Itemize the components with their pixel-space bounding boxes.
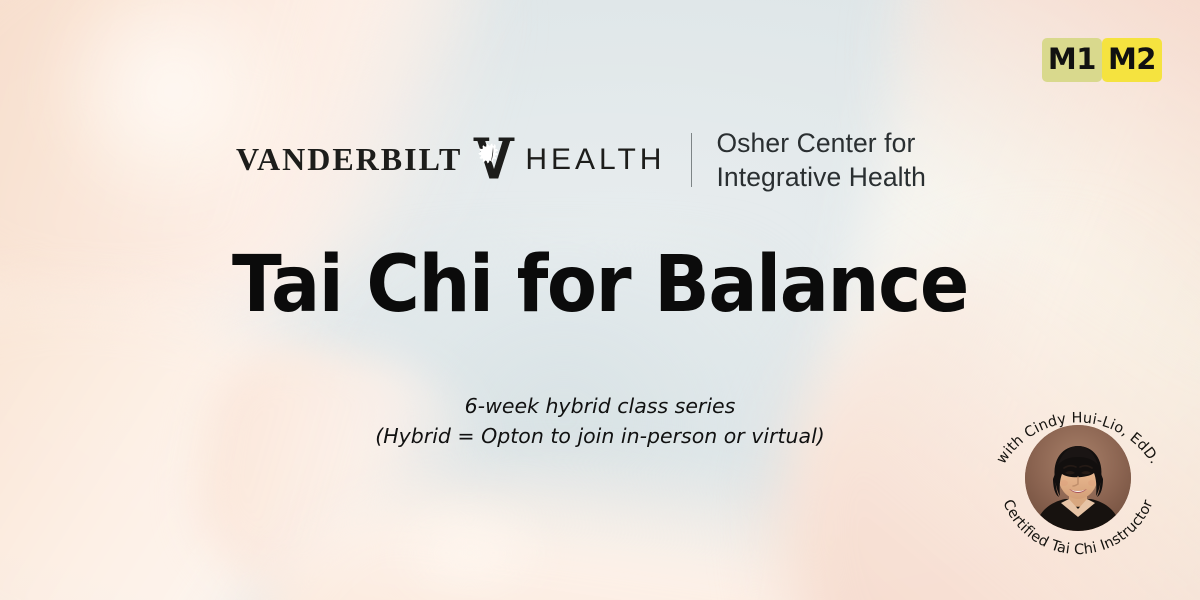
event-poster: M1 M2 VANDERBILT HEALTH Osher Center for… bbox=[0, 0, 1200, 600]
vanderbilt-v-oak-leaf-icon bbox=[472, 135, 516, 186]
health-wordmark: HEALTH bbox=[525, 145, 665, 175]
badge-m1: M1 bbox=[1042, 38, 1102, 82]
instructor-credential-textpath: Certified Tai Chi Instructor bbox=[999, 497, 1156, 558]
instructor-name-textpath: with Cindy Hui-Lio, EdD. bbox=[994, 410, 1163, 467]
instructor-name-arc: with Cindy Hui-Lio, EdD. bbox=[994, 410, 1163, 467]
osher-center-line-1: Osher Center for bbox=[716, 126, 926, 160]
osher-center-name: Osher Center for Integrative Health bbox=[716, 126, 926, 195]
instructor-credential-arc: Certified Tai Chi Instructor bbox=[999, 497, 1156, 558]
instructor-badge: with Cindy Hui-Lio, EdD. Certified Tai C… bbox=[978, 378, 1178, 578]
vanderbilt-health-osher-logo: VANDERBILT HEALTH Osher Center for Integ… bbox=[236, 126, 926, 195]
osher-center-line-2: Integrative Health bbox=[716, 160, 926, 194]
module-badges: M1 M2 bbox=[1042, 38, 1162, 82]
vanderbilt-health-wordmark: VANDERBILT HEALTH bbox=[236, 135, 665, 186]
instructor-arc-text: with Cindy Hui-Lio, EdD. Certified Tai C… bbox=[978, 378, 1178, 578]
logo-divider bbox=[691, 133, 692, 187]
event-title: Tai Chi for Balance bbox=[39, 246, 1161, 324]
badge-m2: M2 bbox=[1102, 38, 1162, 82]
vanderbilt-wordmark: VANDERBILT bbox=[236, 143, 462, 177]
